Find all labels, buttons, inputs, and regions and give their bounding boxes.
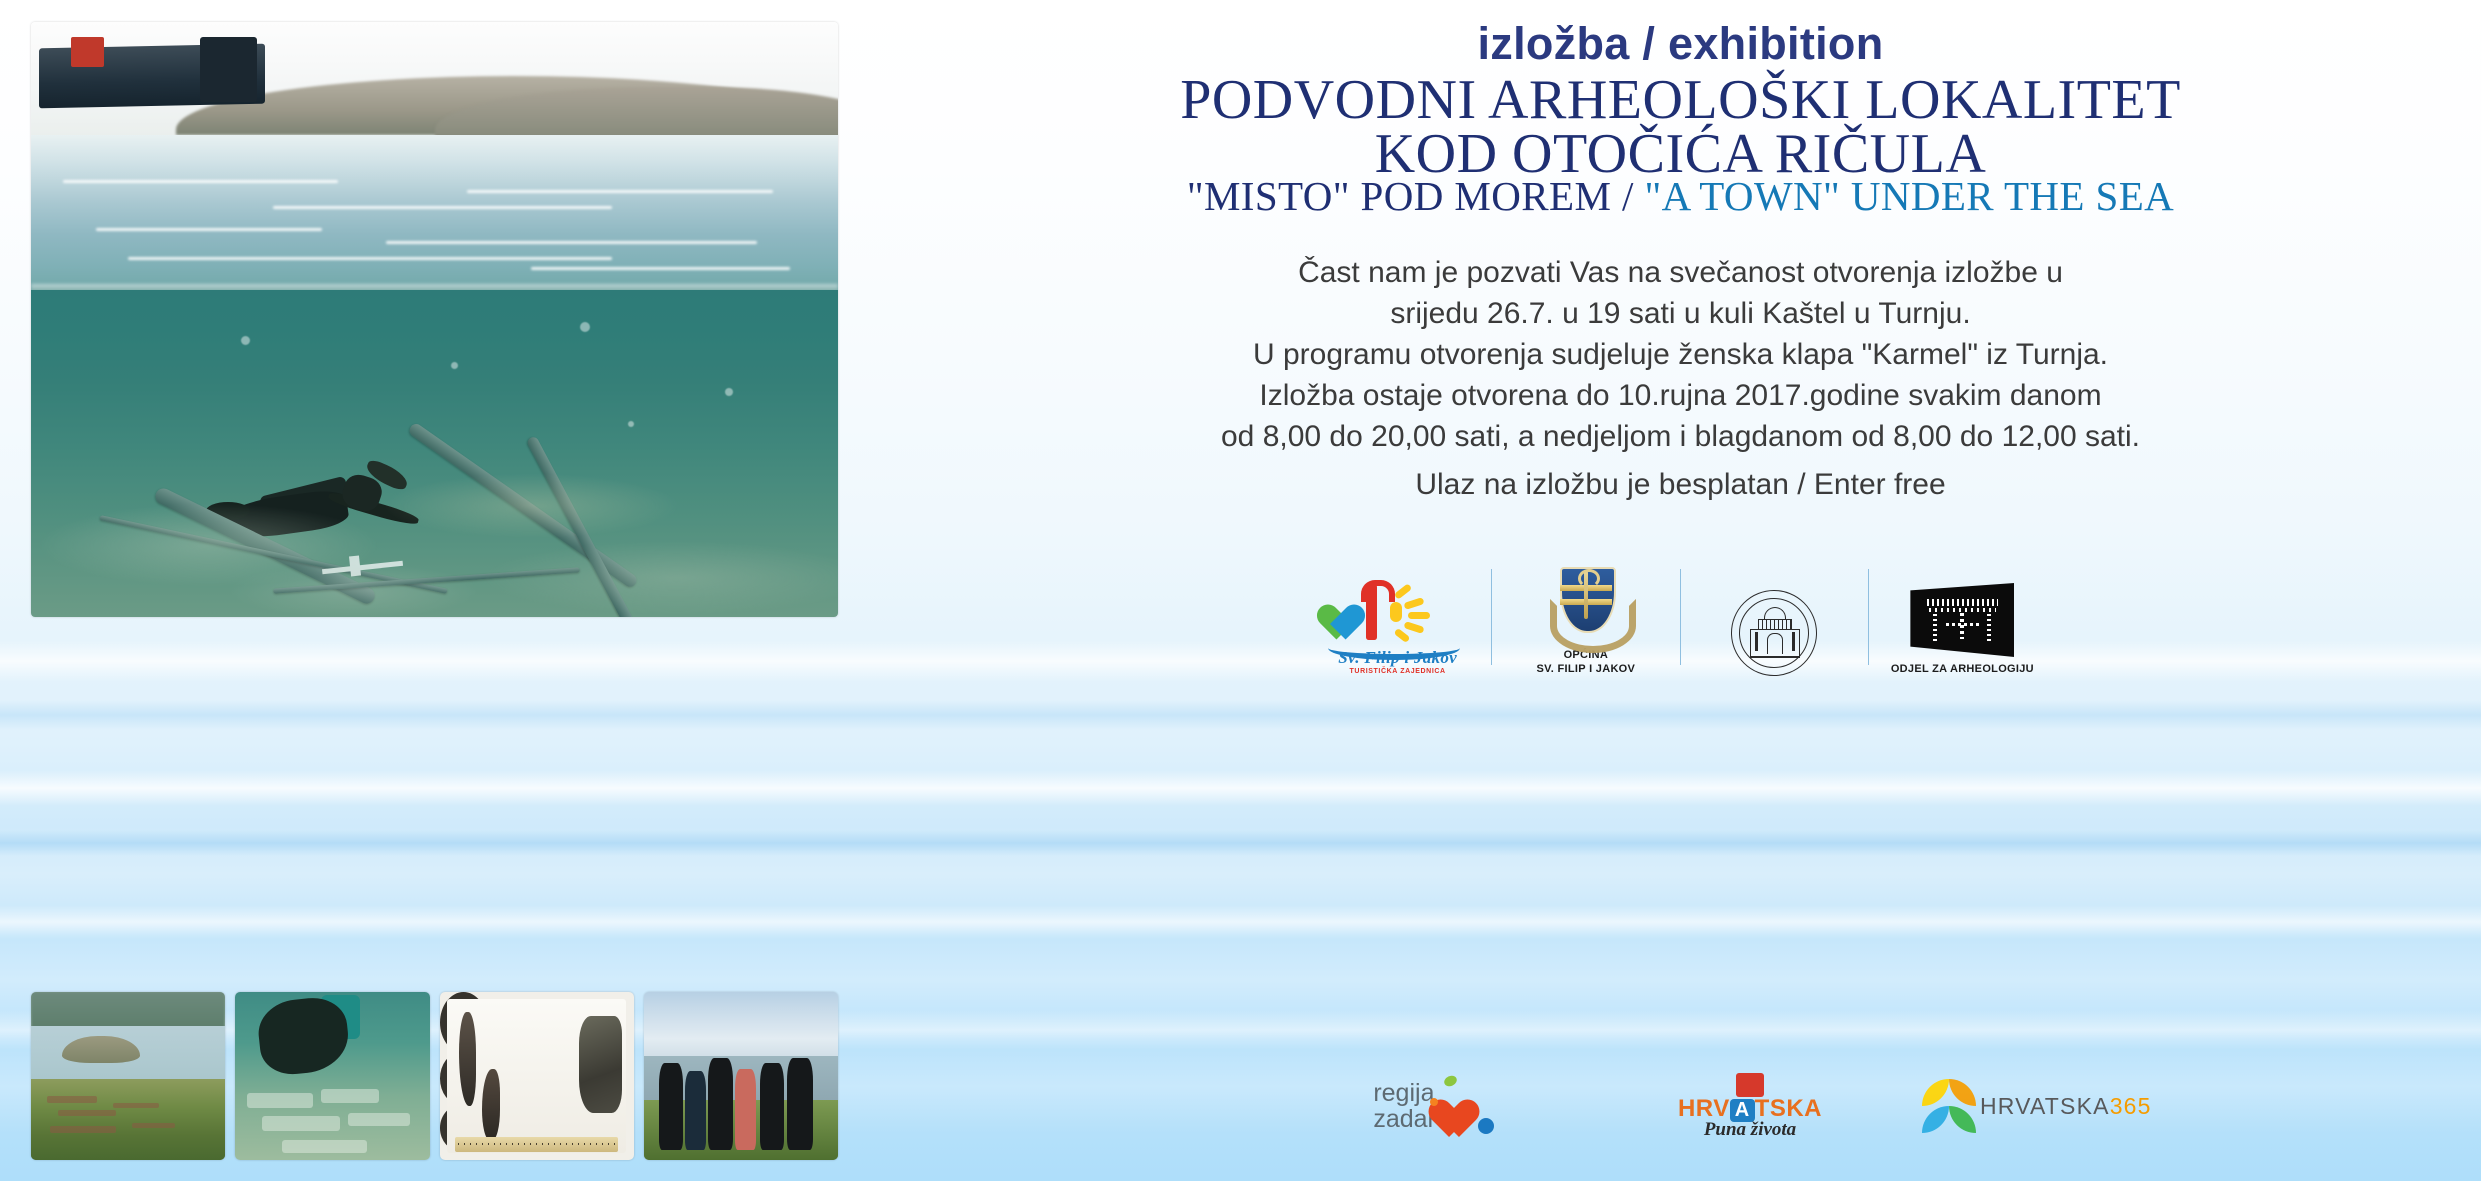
hrvatska365-suffix: 365 bbox=[2110, 1093, 2152, 1119]
subtitle-bilingual: "MISTO" POD MOREM / "A TOWN" UNDER THE S… bbox=[880, 172, 2481, 220]
arch-icon bbox=[1767, 633, 1783, 654]
team-member bbox=[760, 1063, 783, 1150]
underwater-region bbox=[31, 290, 838, 617]
red-staff-icon bbox=[1366, 582, 1377, 640]
crest-icon bbox=[1548, 563, 1624, 643]
cross-icon bbox=[1960, 613, 1964, 640]
laurel-wreath-icon bbox=[1550, 599, 1636, 653]
blue-dot bbox=[1478, 1118, 1494, 1134]
folding-ruler bbox=[455, 1137, 618, 1152]
sky-region bbox=[644, 992, 838, 1059]
pinwheel-petal-green bbox=[1949, 1106, 1976, 1133]
hrvatska-tagline: Puna života bbox=[1660, 1119, 1840, 1141]
island-aerial-thumbnail bbox=[31, 992, 225, 1160]
thumbnail-strip bbox=[31, 992, 838, 1160]
logo-divider bbox=[1680, 569, 1681, 665]
team-member bbox=[685, 1071, 706, 1150]
subtitle-croatian: "MISTO" POD MOREM / bbox=[1187, 173, 1645, 219]
free-entry-note: Ulaz na izložbu je besplatan / Enter fre… bbox=[880, 468, 2481, 502]
regija-zadar-wordmark: regija zadar bbox=[1373, 1080, 1436, 1132]
regija-zadar-line-2: zadar bbox=[1373, 1106, 1436, 1132]
pinwheel-petal-orange bbox=[1949, 1079, 1976, 1106]
body-line: Čast nam je pozvati Vas na svečanost otv… bbox=[880, 252, 2481, 293]
body-line: srijedu 26.7. u 19 sati u kuli Kaštel u … bbox=[880, 293, 2481, 334]
diver-leg bbox=[339, 471, 386, 516]
archaeology-mark-icon bbox=[1910, 583, 2014, 657]
team-member bbox=[787, 1058, 812, 1150]
logo-divider bbox=[1868, 569, 1869, 665]
mountain-ridge bbox=[31, 992, 225, 1029]
team-member bbox=[708, 1058, 733, 1150]
invitation-body: Čast nam je pozvati Vas na svečanost otv… bbox=[880, 252, 2481, 457]
hrvatska365-wordmark: HRVATSKA365 bbox=[1980, 1093, 2152, 1120]
artifacts-thumbnail bbox=[440, 992, 634, 1160]
survey-frame-pipe bbox=[526, 436, 634, 617]
university-of-zadar-seal-logo bbox=[1687, 558, 1862, 676]
green-leaf-dot bbox=[1442, 1074, 1458, 1089]
diver bbox=[255, 994, 352, 1077]
survey-frame-pipe bbox=[153, 486, 378, 607]
diver-fin bbox=[363, 458, 410, 492]
tourist-board-wordmark: Sv. Filip i Jakov bbox=[1332, 648, 1464, 668]
orange-dot bbox=[1430, 1098, 1438, 1106]
municipality-crest-logo: OPĆINA SV. FILIP I JAKOV bbox=[1498, 558, 1673, 676]
pinwheel-petal-yellow bbox=[1922, 1079, 1949, 1106]
hrvatska-part-1: HRV bbox=[1678, 1095, 1730, 1122]
survey-marker bbox=[349, 556, 361, 577]
department-of-archaeology-logo: ODJEL ZA ARHEOLOGIJU bbox=[1875, 558, 2050, 676]
artefact-hook bbox=[459, 1012, 476, 1106]
farmland-region bbox=[31, 1079, 225, 1160]
hrvatska-part-2: TSKA bbox=[1755, 1095, 1822, 1122]
survey-frame-pipe bbox=[407, 422, 639, 590]
survey-line bbox=[273, 567, 579, 593]
heart-icon bbox=[1442, 1084, 1490, 1128]
archaeology-caption: ODJEL ZA ARHEOLOGIJU bbox=[1891, 662, 2034, 676]
diver bbox=[200, 470, 474, 552]
seal-building-icon bbox=[1750, 607, 1798, 657]
survey-marker bbox=[321, 560, 402, 573]
team-member bbox=[735, 1069, 756, 1150]
cross-icon bbox=[1946, 623, 1979, 626]
municipality-caption-line-2: SV. FILIP I JAKOV bbox=[1537, 662, 1636, 676]
tourist-board-tagline: TURISTIČKA ZAJEDNICA bbox=[1332, 668, 1464, 675]
secondary-logo-row: regija zadar HRVATSKA Puna života bbox=[1320, 1066, 2180, 1146]
regija-zadar-line-1: regija bbox=[1373, 1080, 1436, 1106]
frieze-pattern bbox=[1927, 599, 1998, 606]
frieze-pattern bbox=[1929, 608, 1996, 612]
exhibition-kicker: izložba / exhibition bbox=[880, 18, 2481, 70]
column-pattern bbox=[1987, 614, 1991, 644]
regija-zadar-logo: regija zadar bbox=[1320, 1066, 1607, 1146]
main-photo bbox=[31, 22, 838, 617]
logo-divider bbox=[1491, 569, 1492, 665]
primary-logo-row: Sv. Filip i Jakov TURISTIČKA ZAJEDNICA O… bbox=[1310, 558, 2050, 676]
water-surface-region bbox=[31, 135, 838, 296]
red-square-icon bbox=[1736, 1073, 1764, 1097]
hrvatska-puna-zivota-logo: HRVATSKA Puna života bbox=[1607, 1066, 1894, 1146]
artefact-hook bbox=[482, 1069, 499, 1140]
column-pattern bbox=[1933, 614, 1937, 644]
scuba-tank bbox=[259, 476, 351, 524]
team-member bbox=[659, 1063, 682, 1150]
hrvatska365-text: HRVATSKA bbox=[1980, 1093, 2110, 1119]
hrvatska365-logo: HRVATSKA365 bbox=[1893, 1066, 2180, 1146]
pinwheel-icon bbox=[1922, 1079, 1970, 1133]
crozier-curl-icon bbox=[1578, 569, 1600, 588]
diver-body bbox=[220, 487, 350, 542]
poster-canvas: izložba / exhibition PODVODNI ARHEOLOŠKI… bbox=[0, 0, 2481, 1181]
sv-filip-i-jakov-tourist-board-logo: Sv. Filip i Jakov TURISTIČKA ZAJEDNICA bbox=[1310, 558, 1485, 676]
pinwheel-petal-blue bbox=[1922, 1106, 1949, 1133]
subtitle-english: "A TOWN" UNDER THE SEA bbox=[1644, 173, 2174, 219]
body-line: U programu otvorenja sudjeluje ženska kl… bbox=[880, 334, 2481, 375]
team-photo-thumbnail bbox=[644, 992, 838, 1160]
boat-motor bbox=[200, 37, 256, 102]
university-seal-icon bbox=[1731, 590, 1817, 676]
diver-head bbox=[206, 502, 250, 520]
content-column: izložba / exhibition PODVODNI ARHEOLOŠKI… bbox=[880, 0, 2481, 1181]
diver-seabed-thumbnail bbox=[235, 992, 429, 1160]
body-line: od 8,00 do 20,00 sati, a nedjeljom i bla… bbox=[880, 416, 2481, 457]
survey-line bbox=[99, 515, 447, 594]
boat-red-gear bbox=[71, 37, 103, 67]
body-line: Izložba ostaje otvorena do 10.rujna 2017… bbox=[880, 375, 2481, 416]
diver-leg bbox=[327, 490, 420, 528]
artefact-slab bbox=[579, 1016, 622, 1113]
